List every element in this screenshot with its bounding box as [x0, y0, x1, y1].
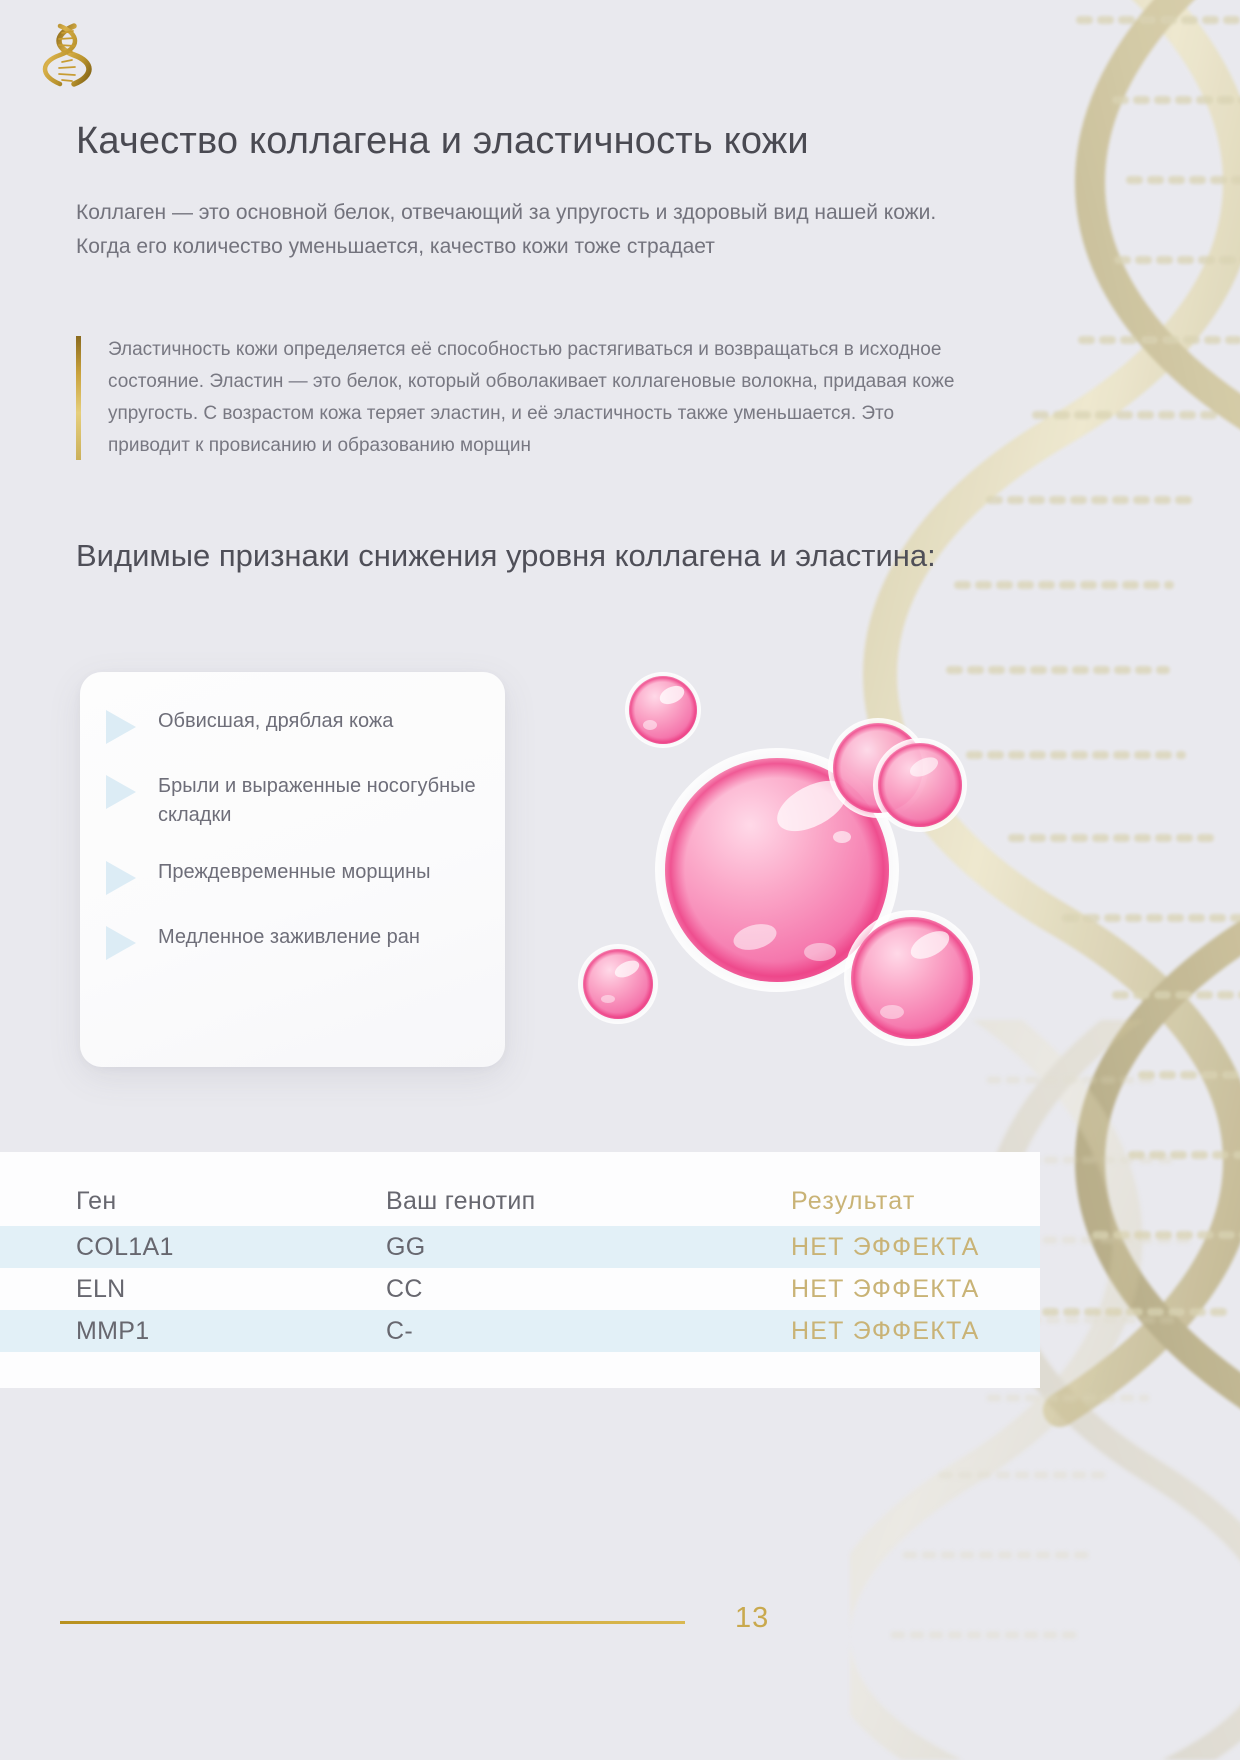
report-page: Качество коллагена и эластичность кожи К… [0, 0, 1240, 1754]
table-bottom-padding [0, 1352, 1040, 1388]
column-header-genotype: Ваш генотип [386, 1187, 791, 1216]
column-header-result: Результат [791, 1187, 1040, 1216]
status-badge: НЕТ ЭФФЕКТА [791, 1233, 1040, 1262]
cell-genotype: C- [386, 1317, 791, 1346]
column-header-gene: Ген [76, 1187, 386, 1216]
cell-genotype: GG [386, 1233, 791, 1262]
cell-gene: ELN [76, 1275, 386, 1304]
table-header-row: Ген Ваш генотип Результат [0, 1152, 1040, 1226]
cell-gene: COL1A1 [76, 1233, 386, 1262]
triangle-right-icon [106, 775, 136, 809]
dna-helix-icon [40, 22, 98, 88]
triangle-right-icon [106, 710, 136, 744]
bubble-small-bottom-left [578, 944, 658, 1024]
quote-block: Эластичность кожи определяется её способ… [76, 334, 976, 462]
footer-rule [60, 1621, 685, 1624]
status-badge: НЕТ ЭФФЕКТА [791, 1317, 1040, 1346]
results-table: Ген Ваш генотип Результат COL1A1 GG НЕТ … [0, 1152, 1040, 1388]
page-title: Качество коллагена и эластичность кожи [76, 118, 1076, 164]
page-number: 13 [735, 1602, 769, 1635]
bubble-medium-bottom-right [844, 910, 980, 1046]
sign-label: Обвисшая, дряблая кожа [158, 706, 393, 736]
sign-label: Брыли и выраженные носогубные складки [158, 771, 479, 830]
list-item: Брыли и выраженные носогубные складки [106, 771, 479, 830]
triangle-right-icon [106, 926, 136, 960]
table-row: COL1A1 GG НЕТ ЭФФЕКТА [0, 1226, 1040, 1268]
list-item: Обвисшая, дряблая кожа [106, 706, 479, 744]
status-badge: НЕТ ЭФФЕКТА [791, 1275, 1040, 1304]
cell-gene: MMP1 [76, 1317, 386, 1346]
sign-label: Медленное заживление ран [158, 922, 420, 952]
list-item: Преждевременные морщины [106, 857, 479, 895]
bubble-small-top [625, 672, 701, 748]
lead-paragraph: Коллаген — это основной белок, отвечающи… [76, 196, 996, 264]
table-row: MMP1 C- НЕТ ЭФФЕКТА [0, 1310, 1040, 1352]
list-item: Медленное заживление ран [106, 922, 479, 960]
signs-card: Обвисшая, дряблая кожа Брыли и выраженны… [80, 672, 505, 1067]
quote-text: Эластичность кожи определяется её способ… [108, 334, 976, 462]
sign-label: Преждевременные морщины [158, 857, 431, 887]
collagen-bubbles-illustration [520, 640, 1080, 1110]
cell-genotype: CC [386, 1275, 791, 1304]
triangle-right-icon [106, 861, 136, 895]
table-row: ELN CC НЕТ ЭФФЕКТА [0, 1268, 1040, 1310]
section-heading: Видимые признаки снижения уровня коллаге… [76, 535, 936, 577]
page-footer: 13 [0, 1602, 1240, 1642]
